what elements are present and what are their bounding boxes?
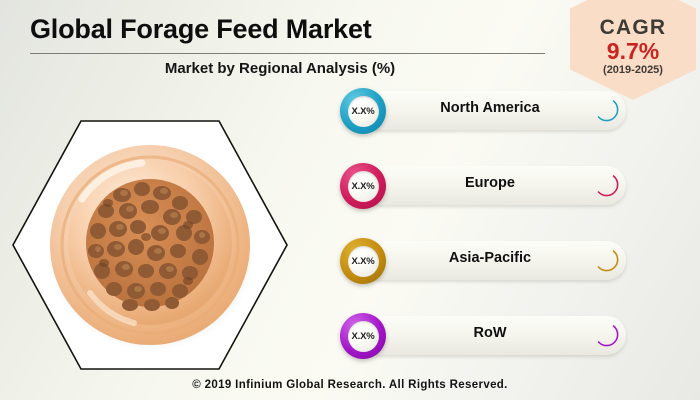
legend-value: X.X%	[352, 256, 375, 267]
hexagon-outline-icon	[12, 120, 288, 370]
legend-item-row[interactable]: RoW X.X%	[340, 313, 626, 358]
legend-value-badge: X.X%	[340, 238, 386, 284]
legend-item-north-america[interactable]: North America X.X%	[340, 88, 626, 133]
progress-arc-icon	[590, 170, 620, 200]
legend-item-asia-pacific[interactable]: Asia-Pacific X.X%	[340, 238, 626, 283]
legend-value-badge: X.X%	[340, 163, 386, 209]
legend-value-badge: X.X%	[340, 88, 386, 134]
cagr-value: 9.7%	[607, 39, 659, 64]
legend-label: Europe	[410, 175, 570, 191]
legend-label: Asia-Pacific	[410, 250, 570, 266]
legend-badge-inner: X.X%	[348, 171, 379, 202]
cagr-label: CAGR	[600, 17, 667, 39]
legend-badge-inner: X.X%	[348, 321, 379, 352]
page-subtitle: Market by Regional Analysis (%)	[30, 60, 530, 77]
cagr-badge: CAGR 9.7% (2019-2025)	[570, 0, 696, 100]
cagr-period: (2019-2025)	[603, 64, 663, 77]
footer-copyright: © 2019 Infinium Global Research. All Rig…	[0, 379, 700, 391]
progress-arc-icon	[590, 245, 620, 275]
title-divider	[30, 53, 545, 54]
legend-label: RoW	[410, 325, 570, 341]
page-title: Global Forage Feed Market	[30, 14, 530, 45]
legend-list: North America X.X% Europe X.X%	[340, 88, 626, 388]
legend-value: X.X%	[352, 331, 375, 342]
progress-arc-icon	[590, 95, 620, 125]
infographic-root: Global Forage Feed Market Market by Regi…	[0, 0, 700, 400]
legend-item-europe[interactable]: Europe X.X%	[340, 163, 626, 208]
legend-label: North America	[410, 100, 570, 116]
hero-hexagon-image	[12, 120, 288, 370]
legend-value: X.X%	[352, 106, 375, 117]
legend-badge-inner: X.X%	[348, 96, 379, 127]
progress-arc-icon	[590, 320, 620, 350]
legend-value-badge: X.X%	[340, 313, 386, 359]
legend-value: X.X%	[352, 181, 375, 192]
legend-badge-inner: X.X%	[348, 246, 379, 277]
